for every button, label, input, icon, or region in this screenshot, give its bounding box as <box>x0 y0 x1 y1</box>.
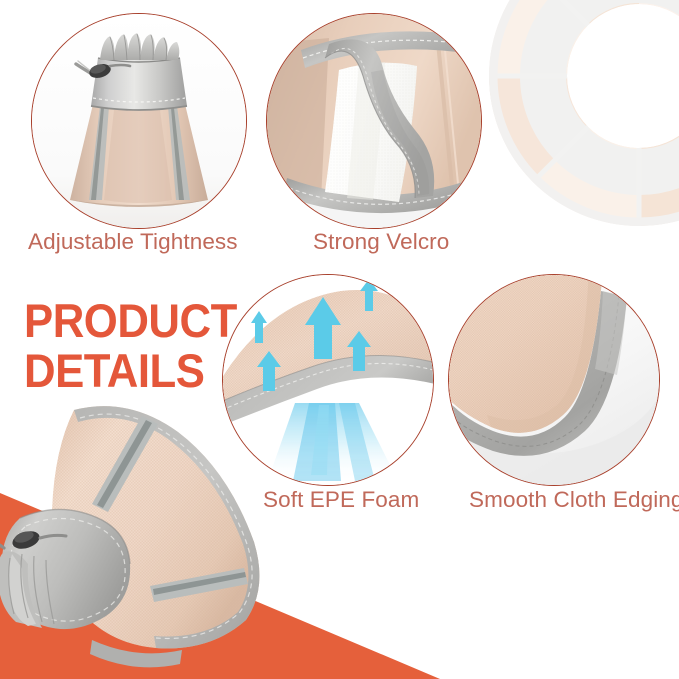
detail-circle-smooth-cloth-edging[interactable] <box>448 274 660 486</box>
page-title-line-2: DETAILS <box>24 346 237 396</box>
hero-product-image <box>0 392 296 679</box>
infographic-canvas: Adjustable Tightness <box>0 0 679 679</box>
page-title: PRODUCT DETAILS <box>24 296 237 396</box>
detail-label-adjustable-tightness: Adjustable Tightness <box>28 229 238 255</box>
detail-circle-adjustable-tightness[interactable] <box>31 13 247 229</box>
detail-label-strong-velcro: Strong Velcro <box>313 229 449 255</box>
page-title-line-1: PRODUCT <box>24 296 237 346</box>
velcro-flap-closeup-image <box>267 14 481 228</box>
detail-circle-strong-velcro[interactable] <box>266 13 482 229</box>
cloth-edging-corner-closeup-image <box>449 275 659 485</box>
pet-cone-drawstring-closeup-image <box>32 14 246 228</box>
faded-cone-top-view-graphic <box>489 0 679 226</box>
detail-label-smooth-cloth-edging: Smooth Cloth Edging <box>469 487 679 513</box>
